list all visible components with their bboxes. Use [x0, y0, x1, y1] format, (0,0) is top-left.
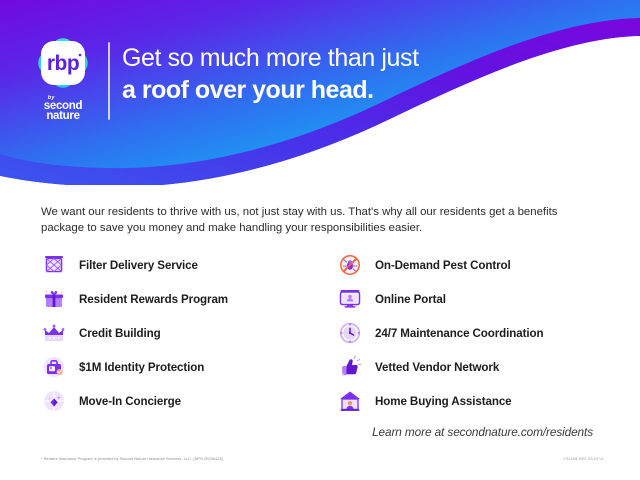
benefit-label: Credit Building [79, 327, 161, 340]
benefits-section: Filter Delivery Service Resident [41, 248, 601, 418]
benefit-label: Home Buying Assistance [375, 395, 512, 408]
headline-line-1: Get so much more than just [122, 43, 602, 73]
benefit-item-maintenance-coordination: 24/7 Maintenance Coordination [337, 316, 601, 350]
monitor-icon [337, 286, 363, 312]
filter-icon [41, 252, 67, 278]
gift-icon [41, 286, 67, 312]
thumbs-up-icon [337, 354, 363, 380]
benefit-label: Move-In Concierge [79, 395, 181, 408]
benefit-label: Filter Delivery Service [79, 259, 198, 272]
benefit-item-credit-building: Credit Building [41, 316, 337, 350]
hero-banner: rbp by second nature Get so much more th… [0, 0, 640, 185]
benefit-item-filter-delivery-service: Filter Delivery Service [41, 248, 337, 282]
legal-footnote: * Renters Insurance Program is provided … [41, 456, 223, 461]
credit-icon [41, 320, 67, 346]
benefit-item-online-portal: Online Portal [337, 282, 601, 316]
headline-line-2: a roof over your head. [122, 75, 602, 105]
briefcase-lock-icon [41, 354, 67, 380]
benefit-item-vetted-vendor-network: Vetted Vendor Network [337, 350, 601, 384]
brand-logo: rbp by second nature [30, 34, 96, 122]
logo-subtext: by second nature [44, 96, 82, 122]
benefit-label: $1M Identity Protection [79, 361, 204, 374]
benefit-item-move-in-concierge: Move-In Concierge [41, 384, 337, 418]
benefit-label: 24/7 Maintenance Coordination [375, 327, 543, 340]
benefits-column-left: Filter Delivery Service Resident [41, 248, 337, 418]
diamond-icon [41, 388, 67, 414]
benefit-label: On-Demand Pest Control [375, 259, 511, 272]
learn-more-link[interactable]: Learn more at secondnature.com/residents [372, 425, 593, 439]
benefits-column-right: On-Demand Pest Control Online Portal [337, 248, 601, 418]
hero-headline: Get so much more than just a roof over y… [122, 43, 602, 105]
svg-text:rbp: rbp [47, 52, 79, 75]
poster-canvas: rbp by second nature Get so much more th… [0, 0, 640, 480]
benefit-label: Online Portal [375, 293, 446, 306]
clock-icon [337, 320, 363, 346]
benefit-item-identity-protection: $1M Identity Protection [41, 350, 337, 384]
benefit-label: Vetted Vendor Network [375, 361, 499, 374]
benefit-item-home-buying-assistance: Home Buying Assistance [337, 384, 601, 418]
no-pest-icon [337, 252, 363, 278]
document-code: CS1008-RES 02/24 V1 [563, 456, 604, 461]
benefit-item-resident-rewards-program: Resident Rewards Program [41, 282, 337, 316]
benefit-item-on-demand-pest-control: On-Demand Pest Control [337, 248, 601, 282]
logo-name-line2: nature [44, 111, 82, 122]
hero-content: rbp by second nature Get so much more th… [0, 0, 640, 185]
rbp-logo-mark: rbp [34, 34, 92, 92]
intro-paragraph: We want our residents to thrive with us,… [41, 205, 589, 236]
benefit-label: Resident Rewards Program [79, 293, 228, 306]
hero-divider [108, 42, 110, 120]
house-icon [337, 388, 363, 414]
